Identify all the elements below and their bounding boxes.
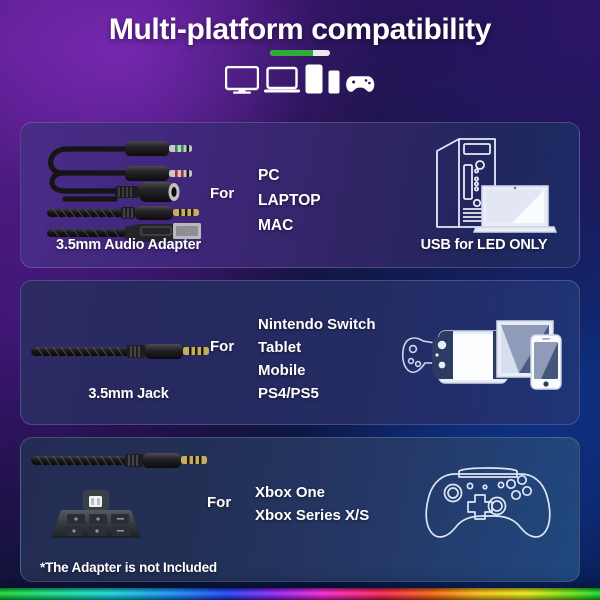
monitor-icon bbox=[225, 66, 259, 94]
audio-adapter-splitter-cable-image: 3.5mm Audio Adapter bbox=[21, 123, 236, 267]
platform-item: PC bbox=[258, 163, 321, 188]
header-device-icons bbox=[0, 64, 600, 94]
page-title: Multi-platform compatibility bbox=[0, 13, 600, 47]
card-1-right-caption: USB for LED ONLY bbox=[389, 237, 579, 253]
card-1-platform-list: PC LAPTOP MAC bbox=[258, 163, 321, 238]
card-2-left-caption: 3.5mm Jack bbox=[21, 386, 236, 402]
platform-item: Tablet bbox=[258, 336, 376, 359]
progress-bar bbox=[270, 50, 330, 56]
card-1-left-caption: 3.5mm Audio Adapter bbox=[21, 237, 236, 253]
card-1-for-label: For bbox=[210, 185, 234, 202]
card-2-platform-list: Nintendo Switch Tablet Mobile PS4/PS5 bbox=[258, 313, 376, 405]
gamepad-icon bbox=[345, 74, 375, 94]
card-3-left-caption: *The Adapter is not Included bbox=[21, 560, 236, 575]
platform-item: Xbox Series X/S bbox=[255, 504, 369, 527]
progress-bar-fill bbox=[270, 50, 313, 56]
phone-icon bbox=[328, 70, 340, 94]
platform-item: PS4/PS5 bbox=[258, 382, 376, 405]
card-2-for-label: For bbox=[210, 338, 234, 355]
platform-item: LAPTOP bbox=[258, 188, 321, 213]
platform-item: Mobile bbox=[258, 359, 376, 382]
desktop-tower-and-laptop-image: USB for LED ONLY bbox=[389, 123, 579, 267]
header: Multi-platform compatibility bbox=[0, 0, 600, 110]
rgb-led-strip bbox=[0, 588, 600, 600]
laptop-icon bbox=[264, 66, 300, 94]
card-3-platform-list: Xbox One Xbox Series X/S bbox=[255, 481, 369, 527]
3-5mm-jack-cable-image: 3.5mm Jack bbox=[21, 281, 236, 424]
platform-item: MAC bbox=[258, 213, 321, 238]
tablet-icon bbox=[305, 64, 323, 94]
card-3-for-label: For bbox=[207, 494, 231, 511]
switch-tablet-phone-gamepad-image bbox=[389, 281, 579, 424]
xbox-controller-image bbox=[389, 438, 579, 581]
xbox-stereo-adapter-image: *The Adapter is not Included bbox=[21, 438, 236, 581]
platform-item: Xbox One bbox=[255, 481, 369, 504]
platform-item: Nintendo Switch bbox=[258, 313, 376, 336]
